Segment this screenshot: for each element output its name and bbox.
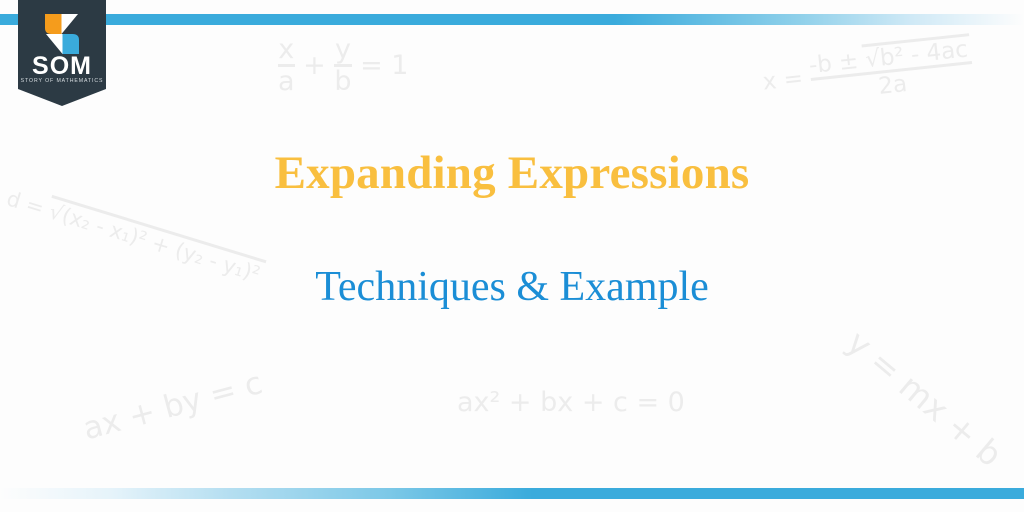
fraction-x-over-a: x a	[278, 36, 295, 97]
numerator-prefix: -b ±	[808, 48, 860, 79]
som-logo-badge[interactable]: SOM STORY OF MATHEMATICS	[18, 0, 106, 106]
equation-quadratic-formula: x = -b ± √b² - 4ac 2a	[760, 33, 975, 111]
equation-slope-intercept: y = mx + b	[839, 323, 1009, 475]
slide-subtitle: Techniques & Example	[0, 262, 1024, 312]
equals-one: = 1	[360, 50, 408, 81]
bottom-accent-bar	[0, 488, 1024, 499]
som-wordmark: SOM	[18, 54, 106, 79]
quadratic-fraction: -b ± √b² - 4ac 2a	[807, 33, 975, 106]
fraction-numerator: y	[334, 36, 351, 64]
fraction-y-over-b: y b	[334, 36, 351, 97]
som-tagline: STORY OF MATHEMATICS	[18, 79, 106, 84]
som-logo-mark-icon	[40, 13, 84, 55]
equation-linear-intercept: x a + y b = 1	[278, 36, 408, 97]
equation-standard-line: ax + by = c	[79, 365, 266, 447]
equation-lhs: x =	[762, 66, 805, 96]
top-accent-bar	[0, 14, 1024, 25]
plus-operator: +	[303, 50, 326, 81]
title-slide: x a + y b = 1 x = -b ± √b² - 4ac 2a d = …	[0, 0, 1024, 512]
fraction-denominator: a	[278, 64, 295, 96]
fraction-numerator: x	[278, 36, 295, 64]
fraction-denominator: b	[334, 64, 351, 96]
equation-quadratic-standard: ax² + bx + c = 0	[457, 387, 685, 418]
slide-title: Expanding Expressions	[0, 145, 1024, 201]
